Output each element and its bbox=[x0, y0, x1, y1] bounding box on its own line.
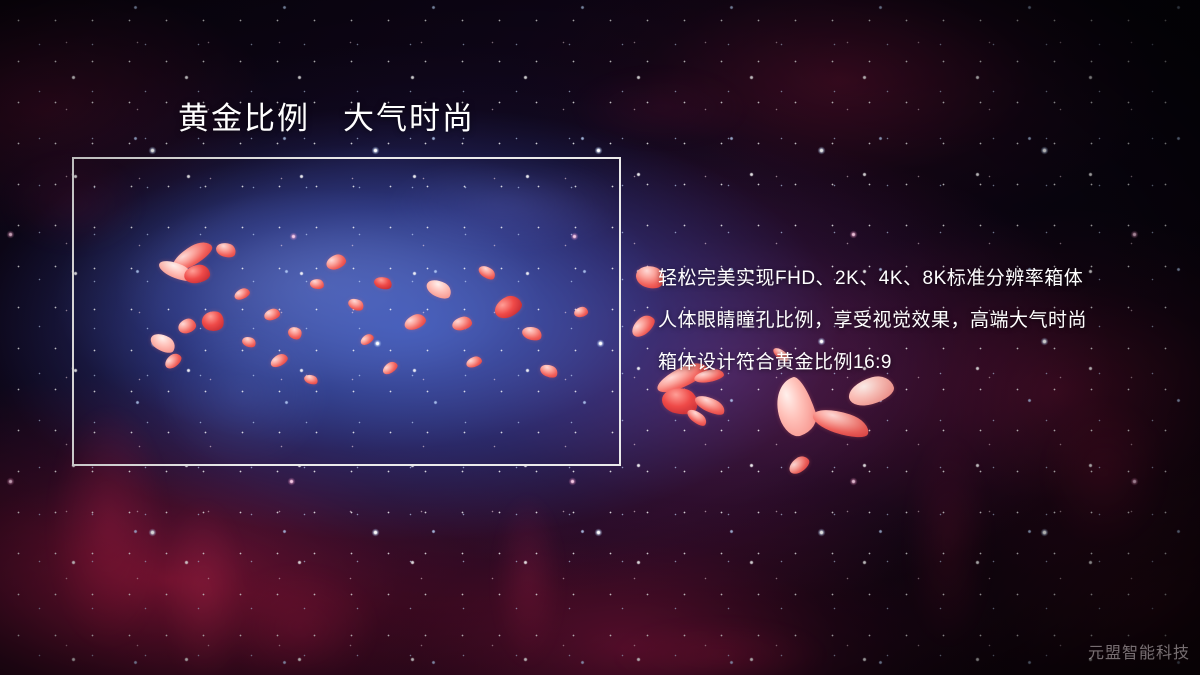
framed-product-image bbox=[72, 157, 621, 466]
description-text-block: 轻松完美实现FHD、2K、4K、8K标准分辨率箱体 人体眼睛瞳孔比例，享受视觉效… bbox=[658, 258, 1178, 384]
slide-title: 黄金比例 大气时尚 bbox=[178, 100, 475, 139]
company-watermark: 元盟智能科技 bbox=[1088, 639, 1190, 663]
framed-image-content bbox=[74, 159, 619, 464]
description-line: 人体眼睛瞳孔比例，享受视觉效果，高端大气时尚 bbox=[658, 300, 1178, 342]
flower-petal bbox=[810, 404, 872, 443]
flower-petal bbox=[786, 453, 812, 477]
framed-starfield-bright bbox=[74, 159, 619, 464]
description-line: 箱体设计符合黄金比例16:9 bbox=[658, 342, 1178, 384]
description-line: 轻松完美实现FHD、2K、4K、8K标准分辨率箱体 bbox=[658, 258, 1178, 300]
flower-petal bbox=[628, 312, 658, 341]
presentation-slide: 黄金比例 大气时尚 轻松完美实现FHD、2K、4K、8K标准分辨率箱体 人体眼睛… bbox=[0, 0, 1200, 675]
